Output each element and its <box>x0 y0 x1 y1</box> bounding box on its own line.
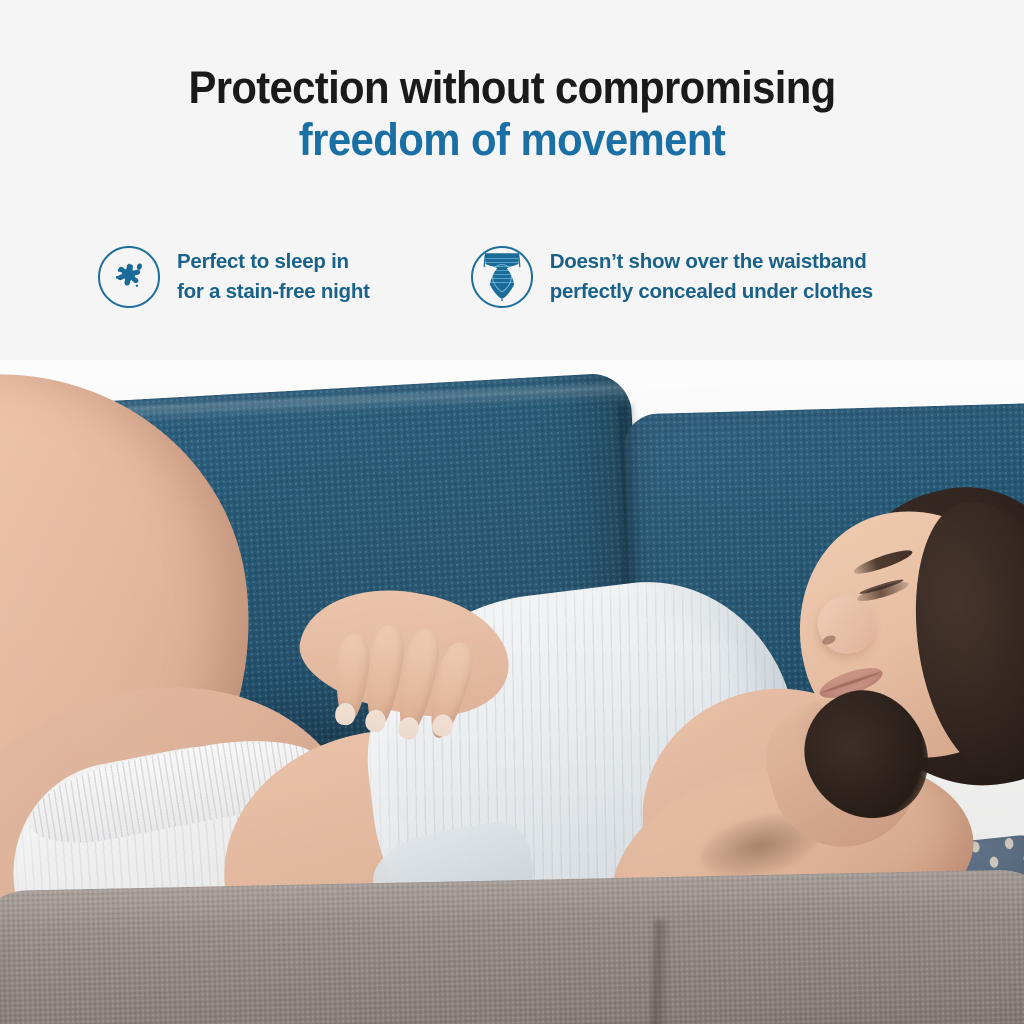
promotional-product-banner: Protection without compromising freedom … <box>0 0 1024 1024</box>
feature-1-line-2: for a stain-free night <box>177 277 370 307</box>
lifestyle-product-photo <box>0 360 1024 1024</box>
model-hand <box>328 598 510 742</box>
page-title: Protection without compromising freedom … <box>0 64 1024 166</box>
splash-stain-icon <box>98 246 160 308</box>
couch-seat-cushion <box>0 869 1024 1024</box>
feature-text-stain-free: Perfect to sleep in for a stain-free nig… <box>177 247 370 306</box>
feature-list: Perfect to sleep in for a stain-free nig… <box>0 246 1024 308</box>
feature-item-stain-free: Perfect to sleep in for a stain-free nig… <box>98 246 370 308</box>
feature-item-concealed: Doesn’t show over the waistband perfectl… <box>471 246 873 308</box>
feature-2-line-2: perfectly concealed under clothes <box>550 277 873 307</box>
feature-2-line-1: Doesn’t show over the waistband <box>550 247 873 277</box>
feature-text-concealed: Doesn’t show over the waistband perfectl… <box>550 247 873 306</box>
feature-1-line-1: Perfect to sleep in <box>177 247 370 277</box>
absorbent-underwear-icon <box>471 246 533 308</box>
headline-line-2: freedom of movement <box>36 113 988 166</box>
headline-line-1: Protection without compromising <box>36 64 988 113</box>
